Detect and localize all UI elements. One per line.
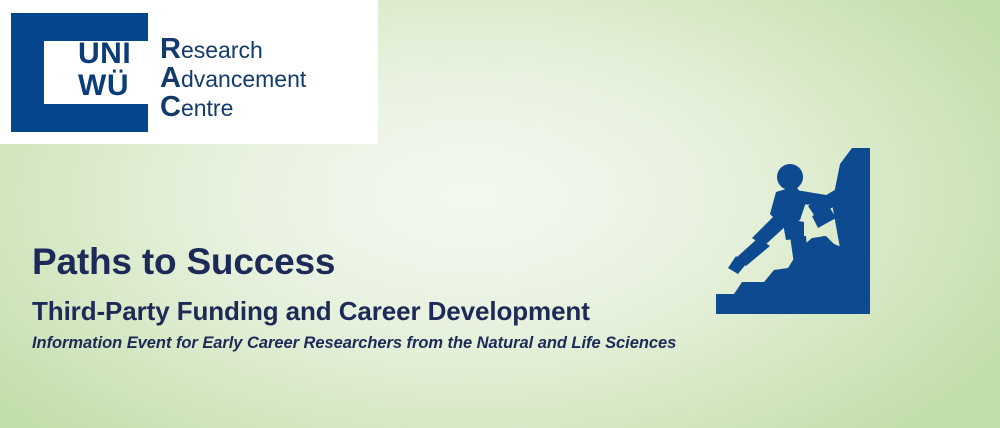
logo-uni-wu-mark: UNI WÜ — [78, 38, 150, 102]
logo-mark-line-2: WÜ — [78, 70, 150, 102]
uni-wuerzburg-rac-logo: UNI WÜ Research Advancement Centre — [0, 0, 378, 144]
logo-wordmark-cap-a: A — [160, 62, 181, 94]
logo-wordmark-cap-r: R — [160, 33, 181, 65]
logo-wordmark-line-research: Research — [160, 35, 306, 64]
headline-text-block: Paths to Success Third-Party Funding and… — [32, 240, 732, 354]
logo-wordmark-line-advancement: Advancement — [160, 64, 306, 93]
climber-on-cliff-icon — [712, 144, 892, 326]
logo-wordmark-rest-advancement: dvancement — [181, 66, 306, 92]
logo-wordmark-line-centre: Centre — [160, 93, 306, 122]
logo-wordmark-cap-c: C — [160, 91, 181, 123]
logo-wordmark-rest-research: esearch — [181, 37, 263, 63]
page-subtitle: Third-Party Funding and Career Developme… — [32, 296, 732, 326]
logo-wordmark-rest-centre: entre — [181, 95, 233, 121]
page-title: Paths to Success — [32, 240, 732, 284]
page-tagline: Information Event for Early Career Resea… — [32, 332, 732, 354]
event-banner: UNI WÜ Research Advancement Centre Paths… — [0, 0, 1000, 428]
logo-wordmark: Research Advancement Centre — [160, 35, 306, 122]
logo-mark-line-1: UNI — [78, 38, 150, 70]
